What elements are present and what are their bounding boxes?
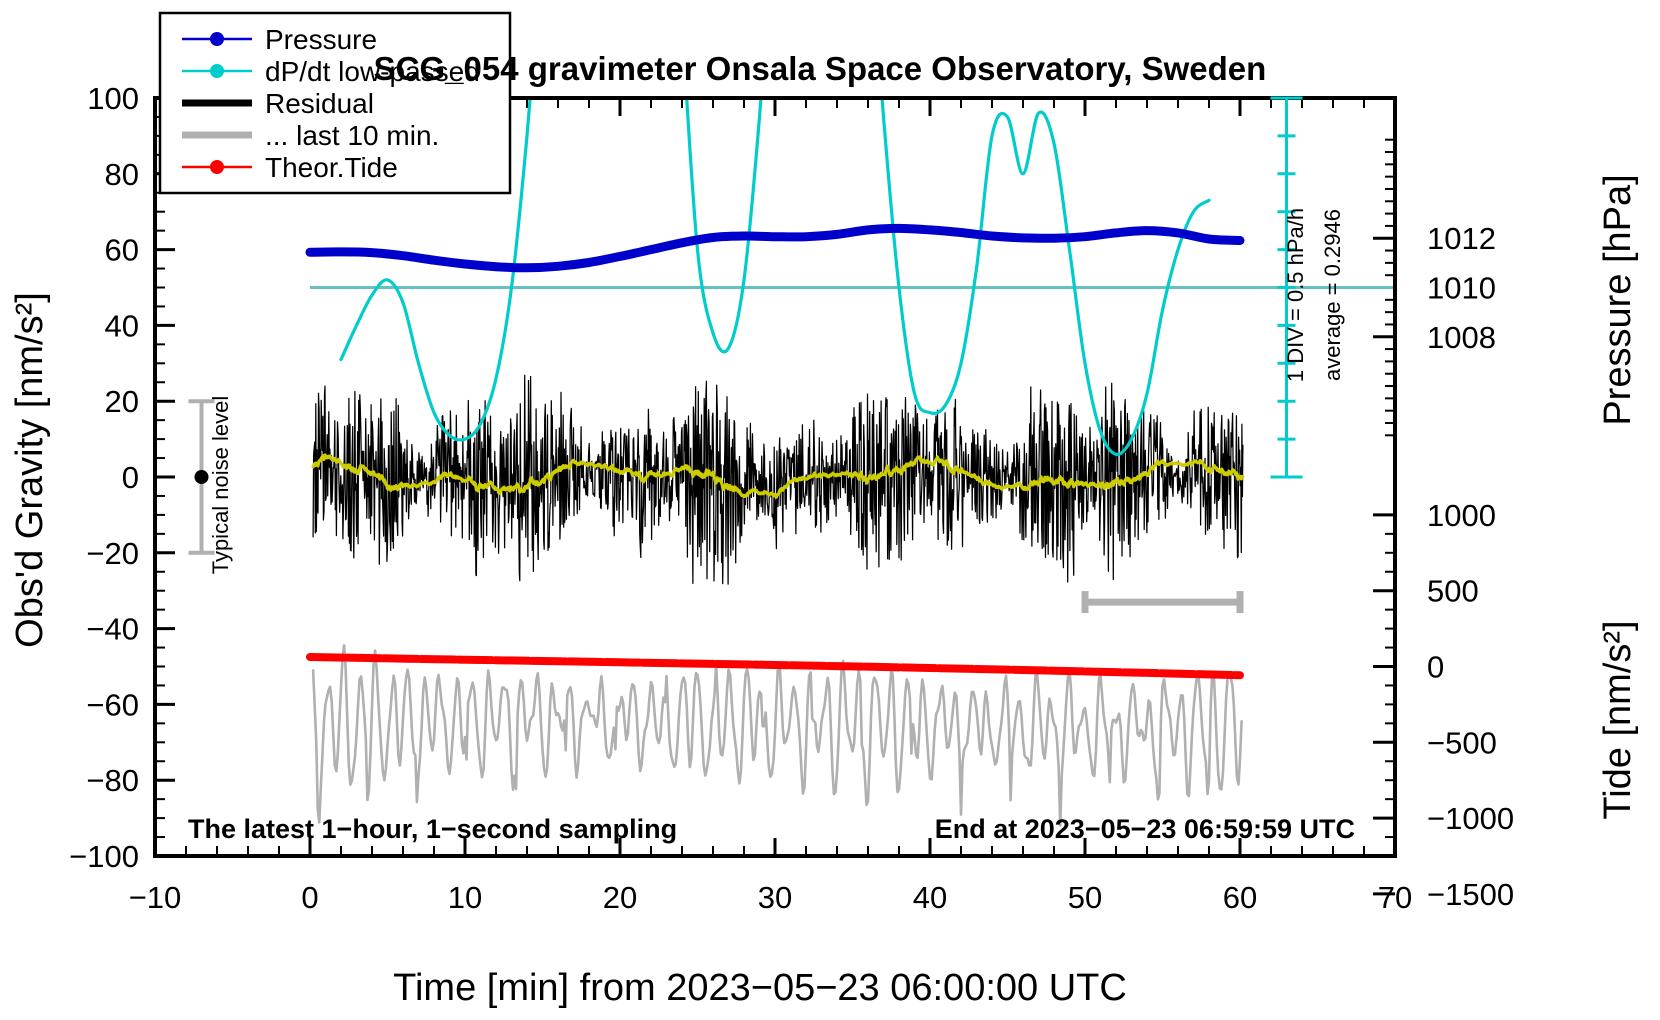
right-pressure-label: 1010 [1427, 271, 1496, 306]
legend-label-4: ... last 10 min. [265, 120, 439, 151]
right-tide-label: 0 [1427, 650, 1444, 685]
legend-marker-5 [210, 160, 224, 174]
y-tick-label: −100 [69, 839, 139, 874]
x-axis-title: Time [min] from 2023−05−23 06:00:00 UTC [393, 967, 1127, 1009]
legend-label-5: Theor.Tide [265, 152, 398, 183]
y-tick-label: 0 [122, 460, 139, 495]
right-tide-label: −1000 [1427, 801, 1514, 836]
annotation-bottom-left: The latest 1−hour, 1−second sampling [188, 814, 677, 844]
y-tick-label: 40 [105, 308, 139, 343]
y-tick-label: −20 [86, 536, 139, 571]
right-tide-label: −500 [1427, 725, 1497, 760]
legend-marker-2 [210, 64, 224, 78]
y-tick-label: 20 [105, 384, 139, 419]
x-tick-label: −10 [129, 880, 182, 915]
y-tick-label: 100 [87, 81, 139, 116]
x-tick-label: 30 [758, 880, 792, 915]
y-axis-right-bottom-title: Tide [nm/s²] [1597, 620, 1639, 819]
gravimeter-plot: −10010203040506070 100806040200−20−40−60… [0, 0, 1660, 1020]
y-tick-label: −40 [86, 612, 139, 647]
noise-level-dot [195, 470, 209, 484]
y-tick-label: −60 [86, 687, 139, 722]
x-tick-label: 50 [1068, 880, 1102, 915]
right-tide-label: −1500 [1427, 877, 1514, 912]
gravimeter-plot-page: −10010203040506070 100806040200−20−40−60… [0, 0, 1660, 1020]
dpdt-division-label: 1 DIV = 0.5 hPa/h [1283, 208, 1308, 382]
legend-label-1: Pressure [265, 24, 377, 55]
y-tick-label: −80 [86, 763, 139, 798]
noise-level-label: Typical noise level [208, 396, 233, 575]
right-pressure-label: 1012 [1427, 221, 1496, 256]
right-pressure-label: 1008 [1427, 320, 1496, 355]
annotation-bottom-right: End at 2023−05−23 06:59:59 UTC [935, 814, 1355, 844]
dpdt-average-label: average = 0.2946 [1320, 209, 1345, 381]
page-title: SCG_054 gravimeter Onsala Space Observat… [374, 50, 1267, 87]
x-tick-label: 0 [301, 880, 318, 915]
right-tide-label: 1000 [1427, 498, 1496, 533]
x-tick-label: 40 [913, 880, 947, 915]
y-axis-left-title: Obs'd Gravity [nm/s²] [9, 292, 51, 648]
y-tick-label: 80 [105, 157, 139, 192]
legend-label-3: Residual [265, 88, 374, 119]
y-axis-right-top-title: Pressure [hPa] [1597, 174, 1639, 425]
x-tick-label: 20 [603, 880, 637, 915]
legend: PressuredP/dt low-passedResidual... last… [160, 13, 510, 193]
y-tick-label: 60 [105, 233, 139, 268]
x-tick-label: 10 [448, 880, 482, 915]
legend-marker-1 [210, 32, 224, 46]
x-tick-label: 60 [1223, 880, 1257, 915]
x-tick-label: 70 [1378, 880, 1412, 915]
right-tide-label: 500 [1427, 574, 1479, 609]
